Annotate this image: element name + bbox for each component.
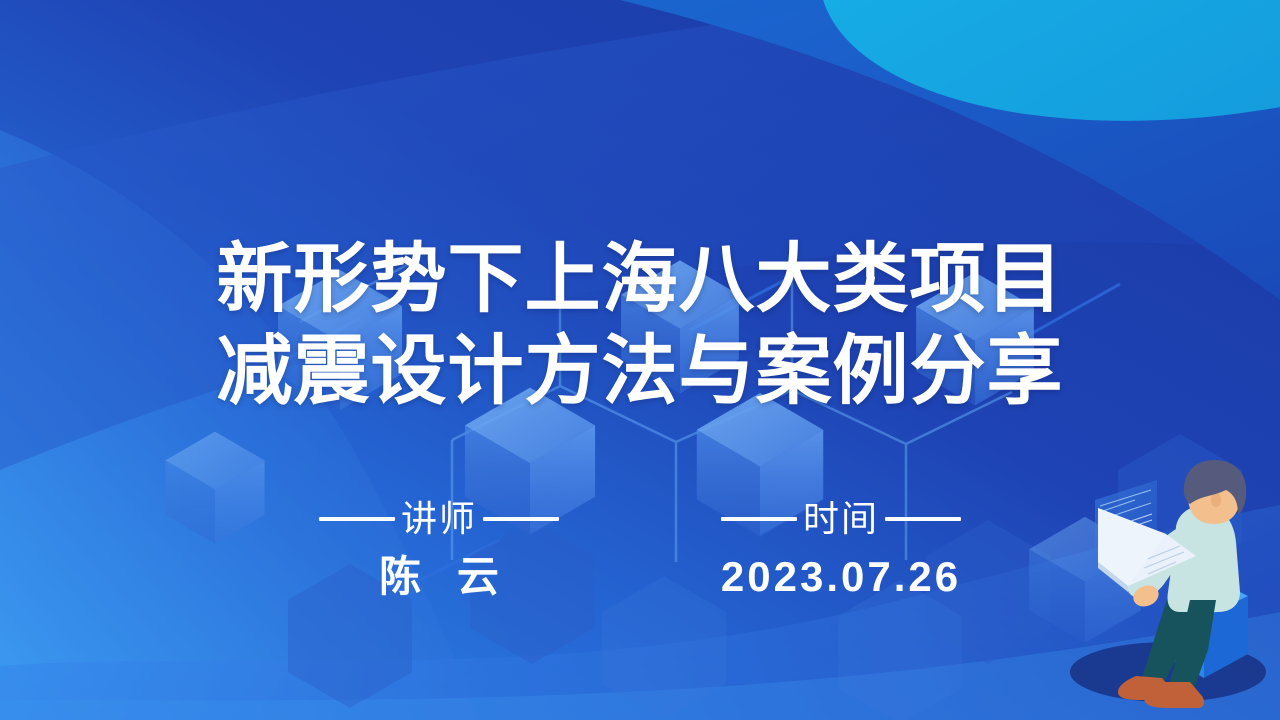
title-line-2: 减震设计方法与案例分享 [0, 326, 1280, 418]
title-slide: 新形势下上海八大类项目 减震设计方法与案例分享 讲师 陈 云 时间 2023.0… [0, 0, 1280, 720]
meta-speaker-label: 讲师 [401, 499, 477, 539]
meta-date: 时间 2023.07.26 [676, 496, 1006, 604]
meta-date-heading: 时间 [676, 496, 1006, 542]
dash-left-icon [319, 517, 395, 521]
dash-right-icon [483, 517, 559, 521]
meta-speaker: 讲师 陈 云 [274, 496, 604, 604]
slide-text-layer: 新形势下上海八大类项目 减震设计方法与案例分享 讲师 陈 云 时间 2023.0… [0, 0, 1280, 720]
meta-speaker-value: 陈 云 [274, 550, 604, 604]
dash-left-icon [721, 517, 797, 521]
page-title: 新形势下上海八大类项目 减震设计方法与案例分享 [0, 234, 1280, 418]
meta-speaker-heading: 讲师 [274, 496, 604, 542]
meta-date-label: 时间 [803, 499, 879, 539]
title-line-1: 新形势下上海八大类项目 [0, 234, 1280, 326]
dash-right-icon [885, 517, 961, 521]
meta-date-value: 2023.07.26 [676, 550, 1006, 604]
meta-row: 讲师 陈 云 时间 2023.07.26 [0, 496, 1280, 604]
